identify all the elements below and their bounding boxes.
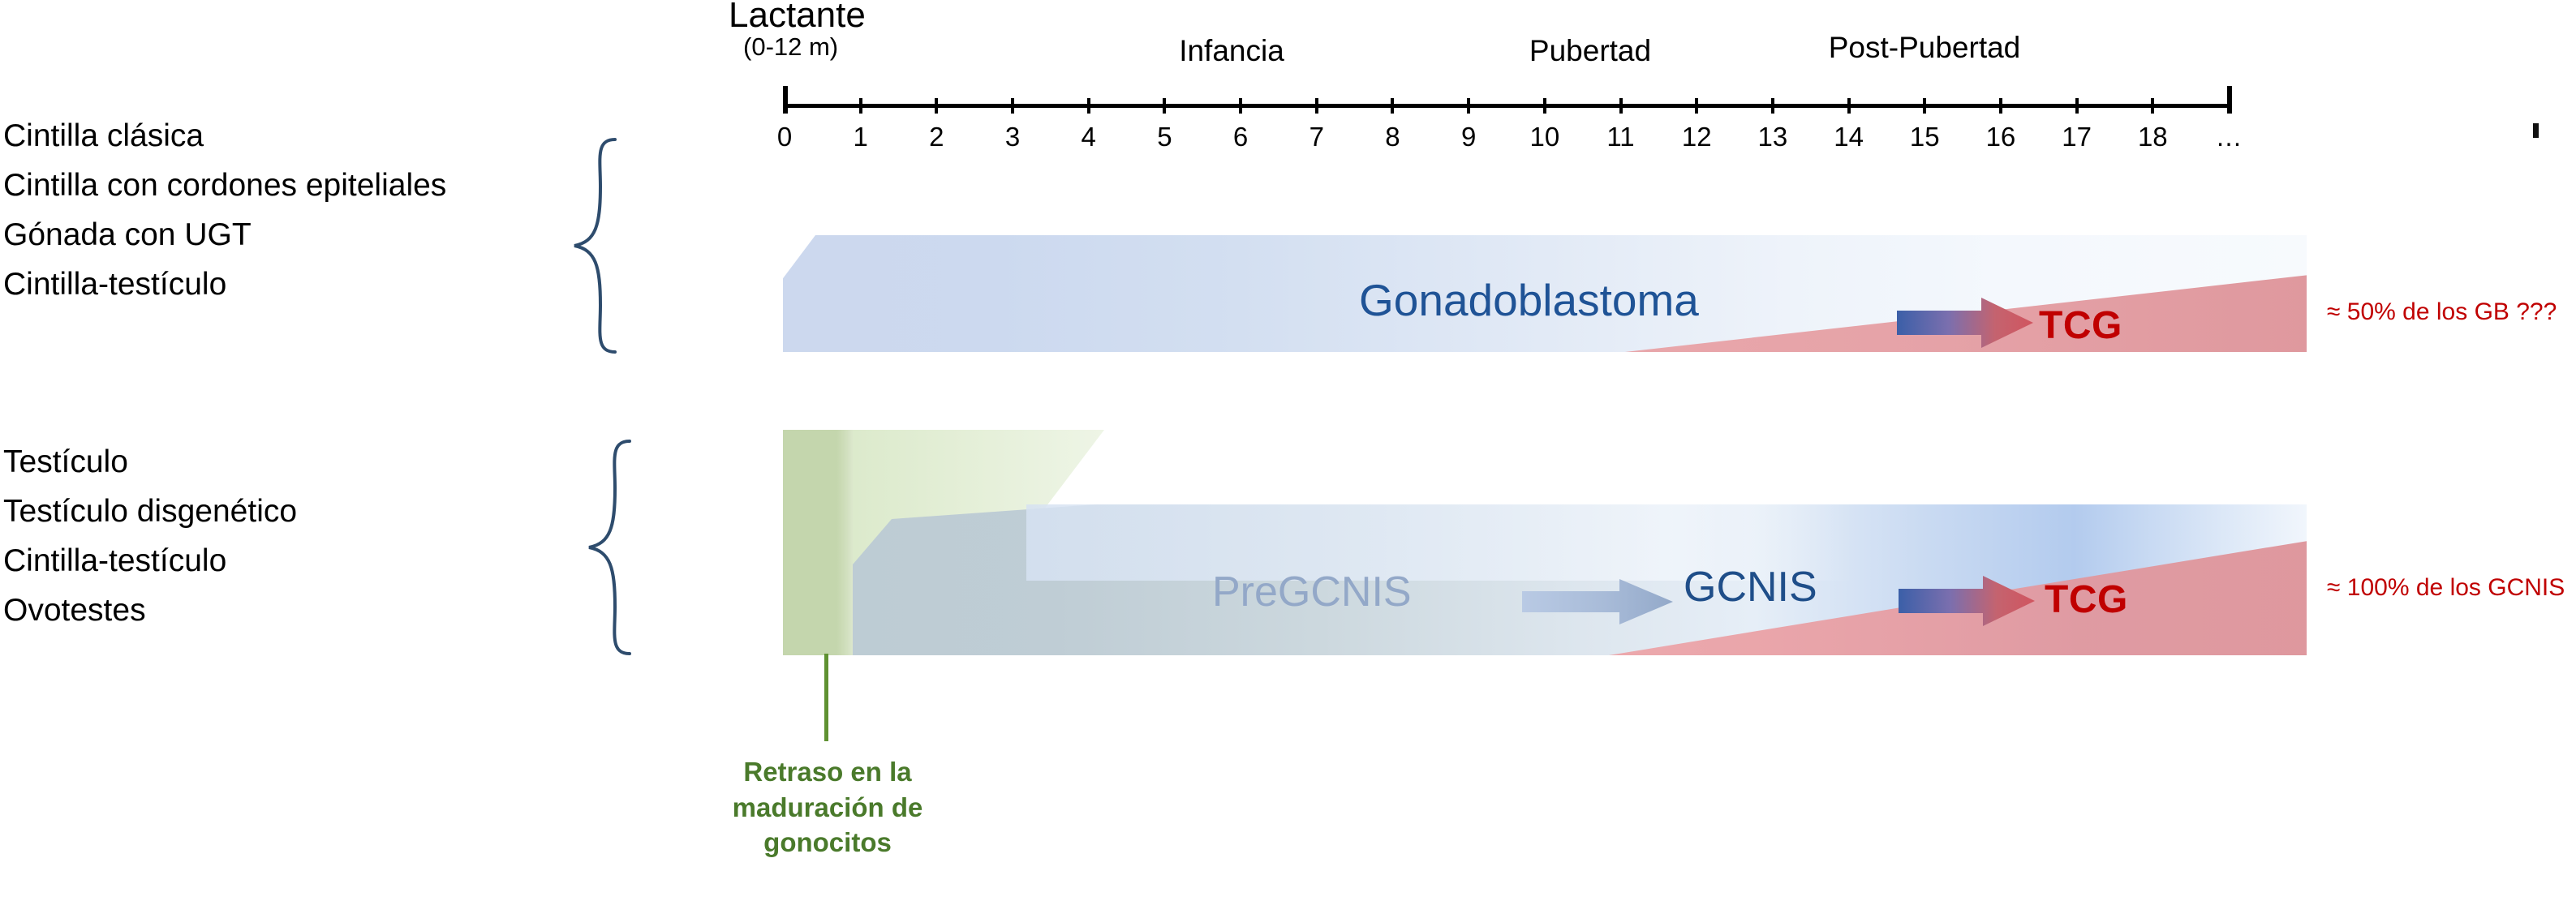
stray-mark: [2533, 123, 2539, 138]
axis-tick: [1847, 98, 1851, 114]
list-item: Cintilla con cordones epiteliales: [3, 169, 446, 201]
axis-tick-label: 11: [1597, 122, 1645, 152]
timeline-stage-lactante: Lactante (0-12 m): [729, 0, 972, 61]
list-item: Cintilla-testículo: [3, 268, 446, 300]
transition-arrow-gcnis-to-tcg: [1899, 576, 2035, 626]
axis-tick-label: 14: [1825, 122, 1873, 152]
timeline-axis: 0123456789101112131415161718…: [783, 104, 2227, 108]
axis-tick-end: [2227, 86, 2232, 114]
axis-tick-label: 7: [1292, 122, 1341, 152]
axis-tick-label: 4: [1064, 122, 1113, 152]
annotation-gonadoblastoma-risk: ≈ 50% de los GB ???: [2327, 298, 2557, 326]
axis-tick: [1695, 98, 1698, 114]
timeline-stage-infancia: Infancia: [1094, 34, 1370, 68]
axis-tick-label: 13: [1748, 122, 1797, 152]
axis-tick-label: 8: [1368, 122, 1417, 152]
axis-tick: [783, 86, 788, 114]
axis-tick-label: 10: [1520, 122, 1569, 152]
axis-tick: [1391, 98, 1394, 114]
axis-tick-label: 6: [1216, 122, 1265, 152]
brace-group-gonadoblastoma: [568, 136, 625, 355]
axis-tick-label: 1: [836, 122, 885, 152]
list-item: Cintilla clásica: [3, 120, 446, 152]
axis-tick-label: …: [2204, 122, 2253, 152]
callout-line: maduración de: [673, 790, 982, 826]
stage-label-lactante: Lactante: [729, 0, 972, 34]
axis-tick-label: 0: [760, 122, 809, 152]
axis-tick-label: 16: [1976, 122, 2025, 152]
brace-group-gcnis: [583, 438, 639, 657]
axis-tick: [1011, 98, 1014, 114]
band-gcnis-green-block: [783, 430, 858, 655]
axis-tick: [1087, 98, 1090, 114]
axis-tick: [1239, 98, 1242, 114]
annotation-gcnis-risk: ≈ 100% de los GCNIS: [2327, 574, 2565, 602]
axis-tick: [1315, 98, 1318, 114]
group-gonadoblastoma-labels: Cintilla clásica Cintilla con cordones e…: [3, 120, 446, 318]
list-item: Cintilla-testículo: [3, 545, 297, 577]
axis-tick: [2075, 98, 2079, 114]
axis-tick-label: 12: [1672, 122, 1721, 152]
axis-tick: [1771, 98, 1774, 114]
list-item: Testículo disgenético: [3, 496, 297, 527]
axis-tick: [1999, 98, 2002, 114]
group-gcnis-labels: Testículo Testículo disgenético Cintilla…: [3, 446, 297, 644]
callout-line: gonocitos: [673, 825, 982, 860]
callout-connector-line: [824, 654, 828, 741]
timeline-stage-pubertad: Pubertad: [1452, 34, 1728, 68]
axis-tick-label: 15: [1900, 122, 1949, 152]
transition-arrow-pregcnis-to-gcnis: [1522, 579, 1673, 624]
list-item: Ovotestes: [3, 594, 297, 626]
transition-arrow-gonadoblastoma-to-tcg: [1897, 298, 2033, 348]
band-label-pregcnis: PreGCNIS: [1212, 568, 1412, 616]
axis-tick-label: 3: [988, 122, 1037, 152]
callout-line: Retraso en la: [673, 754, 982, 790]
annotation-gonocyte-maturation-delay: Retraso en la maduración de gonocitos: [673, 754, 982, 860]
axis-tick: [859, 98, 862, 114]
axis-tick-label: 17: [2053, 122, 2101, 152]
band-label-gonadoblastoma: Gonadoblastoma: [1359, 274, 1699, 326]
axis-tick: [1163, 98, 1166, 114]
axis-tick: [1619, 98, 1623, 114]
stage-sublabel-lactante: (0-12 m): [729, 34, 972, 61]
axis-tick: [1467, 98, 1470, 114]
axis-tick-label: 2: [912, 122, 961, 152]
band-label-tcg-gcnis: TCG: [2045, 577, 2128, 622]
list-item: Testículo: [3, 446, 297, 478]
list-item: Gónada con UGT: [3, 219, 446, 251]
axis-tick: [1543, 98, 1546, 114]
band-label-gcnis: GCNIS: [1684, 563, 1817, 611]
band-label-tcg-gonadoblastoma: TCG: [2039, 303, 2122, 348]
axis-tick: [1923, 98, 1926, 114]
axis-tick-label: 18: [2128, 122, 2177, 152]
timeline-stage-post-pubertad: Post-Pubertad: [1754, 31, 2095, 65]
axis-tick: [935, 98, 938, 114]
axis-tick-label: 9: [1444, 122, 1493, 152]
axis-tick: [2151, 98, 2154, 114]
axis-tick-label: 5: [1140, 122, 1189, 152]
